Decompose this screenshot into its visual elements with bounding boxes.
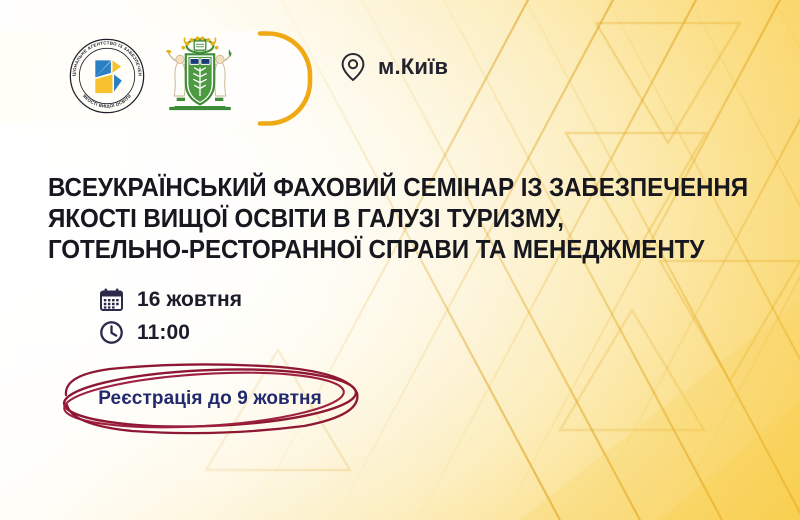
naqa-logo: НАЦІОНАЛЬНЕ АГЕНТСТВО ІЗ ЗАБЕЗПЕЧЕННЯ ЯК…: [68, 37, 146, 115]
event-time-label: 11:00: [137, 321, 190, 345]
location-pin-icon: [340, 52, 366, 82]
title-line-2: ЯКОСТІ ВИЩОЇ ОСВІТИ В ГАЛУЗІ ТУРИЗМУ,: [48, 203, 615, 234]
page-title: ВСЕУКРАЇНСЬКИЙ ФАХОВИЙ СЕМІНАР ІЗ ЗАБЕЗП…: [48, 172, 615, 265]
event-poster: НАЦІОНАЛЬНЕ АГЕНТСТВО ІЗ ЗАБЕЗПЕЧЕННЯ ЯК…: [0, 0, 800, 520]
registration-badge[interactable]: Реєстрація до 9 жовтня: [48, 361, 368, 437]
location-group: м.Київ: [340, 52, 448, 82]
calendar-icon: [99, 287, 124, 312]
svg-text:ЯКОСТІ ВИЩОЇ ОСВІТИ: ЯКОСТІ ВИЩОЇ ОСВІТИ: [82, 93, 132, 108]
clock-icon: [99, 320, 124, 345]
title-line-3: ГОТЕЛЬНО-РЕСТОРАННОЇ СПРАВИ ТА МЕНЕДЖМЕН…: [48, 234, 615, 265]
event-meta: 16 жовтня 11:00: [99, 283, 242, 349]
location-city-label: м.Київ: [378, 54, 448, 80]
event-time-row: 11:00: [99, 316, 242, 349]
registration-label: Реєстрація до 9 жовтня: [48, 361, 368, 437]
university-crest: [154, 36, 246, 116]
title-line-1: ВСЕУКРАЇНСЬКИЙ ФАХОВИЙ СЕМІНАР ІЗ ЗАБЕЗП…: [48, 172, 615, 203]
logo-group: НАЦІОНАЛЬНЕ АГЕНТСТВО ІЗ ЗАБЕЗПЕЧЕННЯ ЯК…: [68, 36, 246, 116]
event-date-label: 16 жовтня: [137, 288, 242, 312]
event-date-row: 16 жовтня: [99, 283, 242, 316]
